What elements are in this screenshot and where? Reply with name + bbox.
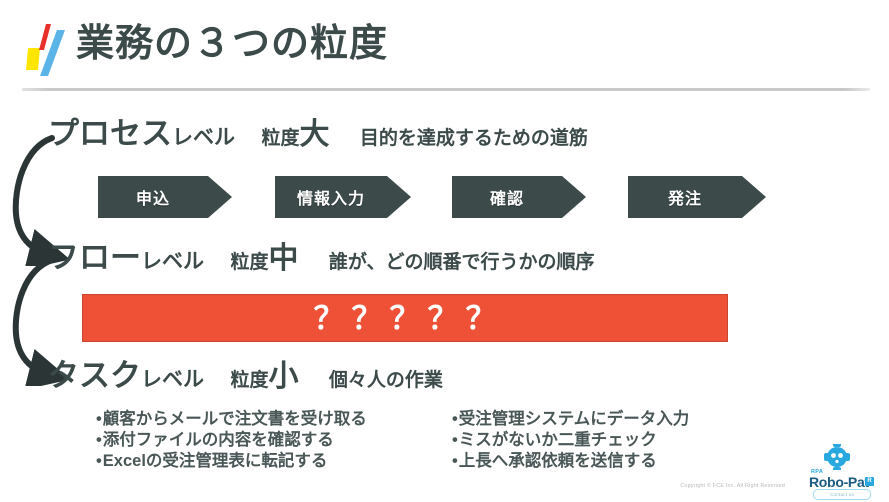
- task-list-right: 受注管理システムにデータ入力 ミスがないか二重チェック 上長へ承認依頼を送信する: [452, 409, 689, 472]
- process-step-3[interactable]: 確認: [452, 176, 586, 218]
- level-description-process: 目的を達成するための道筋: [360, 128, 588, 149]
- registered-mark-icon: R: [865, 477, 874, 486]
- level-suffix-process: レベル: [172, 126, 235, 149]
- level-suffix-flow: レベル: [141, 250, 204, 273]
- fce-slash-logo-icon: [22, 18, 68, 80]
- granularity-value-task: 小: [268, 360, 298, 393]
- process-step-2[interactable]: 情報入力: [275, 176, 411, 218]
- process-step-4[interactable]: 発注: [628, 176, 766, 218]
- granularity-flow: 粒度中: [230, 252, 298, 273]
- granularity-label-flow: 粒度: [230, 252, 268, 273]
- granularity-process: 粒度大: [261, 128, 329, 149]
- granularity-value-flow: 中: [268, 242, 298, 275]
- level-name-task: タスク: [48, 358, 141, 393]
- granularity-task: 粒度小: [230, 370, 298, 391]
- title-divider: [22, 88, 870, 91]
- task-list-left: 顧客からメールで注文書を受け取る 添付ファイルの内容を確認する Excelの受注…: [96, 409, 367, 472]
- level-heading-process: プロセスレベル 粒度大 目的を達成するための道筋: [48, 118, 588, 150]
- granularity-label-process: 粒度: [261, 128, 299, 149]
- list-item: 添付ファイルの内容を確認する: [96, 430, 367, 451]
- level-name-flow: フロー: [48, 240, 141, 275]
- page-title: 業務の３つの粒度: [76, 17, 388, 71]
- granularity-label-task: 粒度: [230, 370, 268, 391]
- process-step-chevrons: 申込 情報入力 確認 発注: [0, 176, 889, 222]
- slide-canvas: 業務の３つの粒度 プロセスレベル 粒度大 目的を達成するための道筋: [0, 0, 889, 502]
- process-step-1[interactable]: 申込: [98, 176, 232, 218]
- copyright-text: Copyright © FCE Inc. All Right Reserved: [680, 483, 785, 489]
- contact-us-button[interactable]: Contact us: [813, 489, 871, 500]
- level-description-flow: 誰が、どの順番で行うかの順序: [329, 252, 595, 273]
- list-item: Excelの受注管理表に転記する: [96, 451, 367, 472]
- level-description-task: 個々人の作業: [329, 370, 443, 391]
- granularity-value-process: 大: [299, 118, 329, 151]
- level-heading-flow: フローレベル 粒度中 誰が、どの順番で行うかの順序: [48, 242, 595, 274]
- list-item: 顧客からメールで注文書を受け取る: [96, 409, 367, 430]
- list-item: ミスがないか二重チェック: [452, 430, 689, 451]
- level-heading-task: タスクレベル 粒度小 個々人の作業: [48, 360, 443, 392]
- list-item: 上長へ承認依頼を送信する: [452, 451, 689, 472]
- level-name-process: プロセス: [48, 116, 172, 151]
- flow-placeholder-text: ？？？？？: [307, 303, 504, 334]
- flow-placeholder-bar: ？？？？？: [82, 294, 728, 342]
- level-suffix-task: レベル: [141, 368, 204, 391]
- robopat-brand-logo: RPA Robo-Pat R Contact us: [797, 448, 881, 498]
- brand-name-label: Robo-Pat: [809, 474, 869, 490]
- list-item: 受注管理システムにデータ入力: [452, 409, 689, 430]
